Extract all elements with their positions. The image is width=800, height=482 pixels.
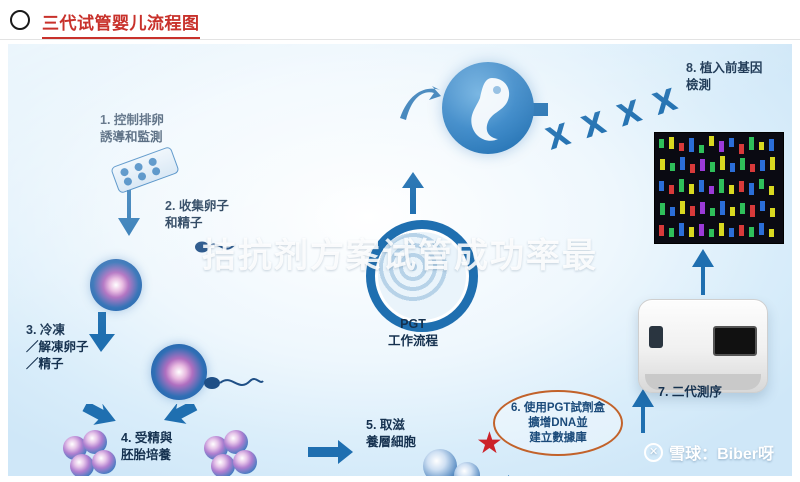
watermark: ✕ 雪球：Biber呀 xyxy=(644,440,774,464)
embryo-cell xyxy=(233,450,257,474)
trophectoderm-cell xyxy=(423,449,457,476)
embryo-cell xyxy=(211,454,235,476)
arrow-to-uterus xyxy=(398,84,442,124)
arrow-center-to-fetus xyxy=(400,172,426,214)
machine-screen xyxy=(713,326,757,356)
step-5-label: 5. 取滋 養層細胞 xyxy=(366,417,416,451)
fetus-icon xyxy=(442,62,534,154)
center-label-line2: 工作流程 xyxy=(356,333,470,350)
overlay-caption: 拮抗剂方案试管成功率最 xyxy=(0,228,800,277)
page-header: 三代试管婴儿流程图 xyxy=(0,0,800,40)
center-label: PGT 工作流程 xyxy=(356,316,470,350)
arrow-step2-to-step3 xyxy=(86,312,120,354)
arrow-step4-to-step5 xyxy=(308,439,354,465)
page-title: 三代试管婴儿流程图 xyxy=(42,9,200,39)
step-6-label: 6. 使用PGT試劑盒 擴增DNA並 建立數據庫 xyxy=(511,401,605,446)
embryo-cell xyxy=(70,454,94,476)
arrow-step5-to-step6 xyxy=(478,474,524,476)
step-2-label: 2. 收集卵子 和精子 xyxy=(165,198,229,232)
step-8-label: 8. 植入前基因 檢測 xyxy=(686,60,762,94)
xueqiu-logo-icon: ✕ xyxy=(644,443,663,462)
machine-side-panel xyxy=(649,326,663,348)
header-divider xyxy=(0,39,800,40)
fertilised-oocyte-icon xyxy=(151,344,207,400)
step-3-label: 3. 冷凍 ／解凍卵子 ／精子 xyxy=(26,322,89,373)
sequencer-machine-icon xyxy=(638,299,768,393)
trophectoderm-cell xyxy=(454,462,480,476)
center-label-line1: PGT xyxy=(356,316,470,333)
step-4-label: 4. 受精與 胚胎培養 xyxy=(121,430,172,464)
step-7-label: 7. 二代測序 xyxy=(658,384,722,401)
arrow-step6-to-step7 xyxy=(628,389,658,433)
circle-outline-icon xyxy=(10,10,30,30)
step-1-label: 1. 控制排卵 誘導和監測 xyxy=(100,112,164,146)
pill-pack-icon xyxy=(110,146,180,194)
sperm-icon xyxy=(204,369,264,402)
step-6-callout: 6. 使用PGT試劑盒 擴增DNA並 建立數據庫 xyxy=(493,390,623,456)
embryo-cell xyxy=(92,450,116,474)
page-root: 三代试管婴儿流程图 1. 控制排卵 誘導和監測 2. 收集卵子 和精子 3. 冷… xyxy=(0,0,800,482)
watermark-text: 雪球：Biber呀 xyxy=(669,440,774,464)
